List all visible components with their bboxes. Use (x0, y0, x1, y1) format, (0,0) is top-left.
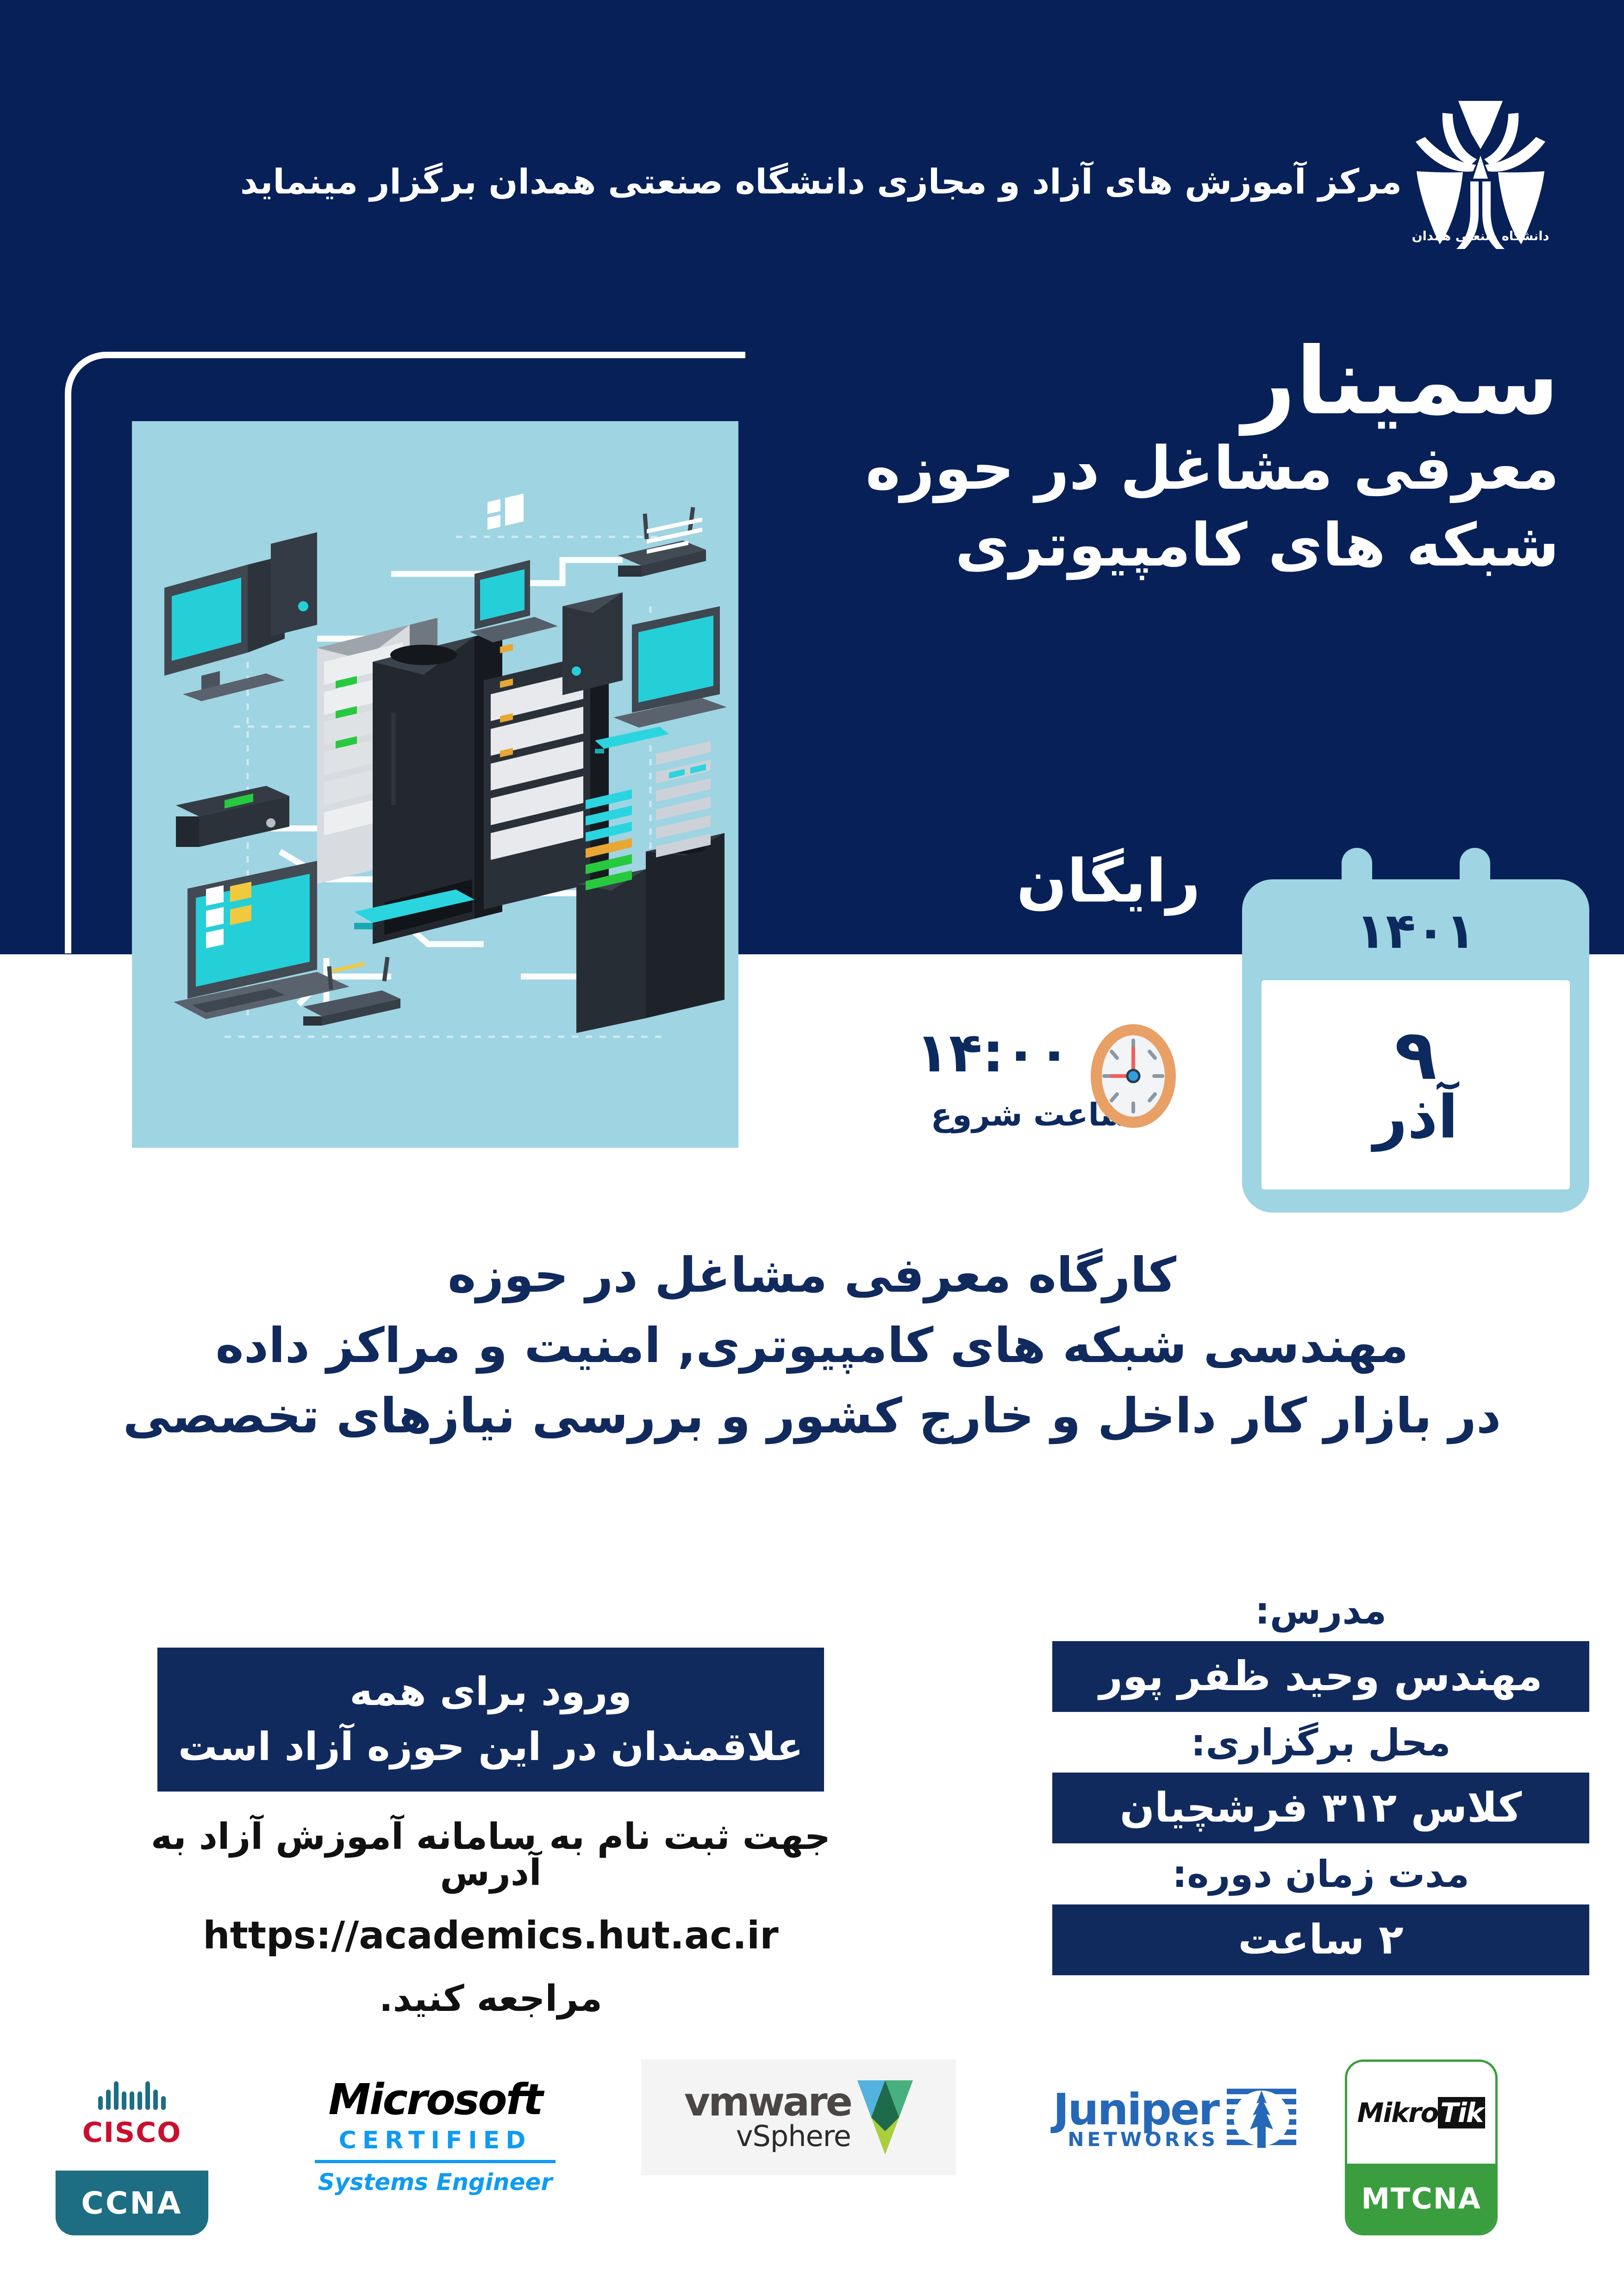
title-line-1: سمینار (772, 333, 1559, 430)
duration-value: ۲ ساعت (1052, 1904, 1589, 1975)
free-entry-notice: ورود برای همه علاقمندان در این حوزه آزاد… (157, 1648, 824, 1792)
registration-info: جهت ثبت نام به سامانه آموزش آزاد به آدرس… (130, 1819, 852, 2017)
calendar-year: ۱۴۰۱ (1242, 902, 1589, 959)
cisco-ccna-logo: CISCO CCNA (56, 2060, 208, 2235)
instructor-label: مدرس: (1052, 1583, 1589, 1638)
entry-line-1: ورود برای همه (171, 1664, 810, 1719)
description-line-3: در بازار کار داخل و خارج کشور و بررسی نی… (0, 1381, 1624, 1451)
mikrotik-brand-text: MikroTik (1357, 2097, 1486, 2128)
description-line-1: کارگاه معرفی مشاغل در حوزه (0, 1240, 1624, 1311)
price-free-label: رایگان (1017, 847, 1200, 916)
poster-header: مرکز آموزش های آزاد و مجازی دانشگاه صنعت… (0, 69, 1624, 190)
microsoft-certified-text: CERTIFIED (339, 2128, 532, 2153)
registration-line-3: مراجعه کنید. (130, 1981, 852, 2017)
microsoft-systems-engineer-text: Systems Engineer (318, 2171, 552, 2194)
vmware-text-block: vmware vSphere (684, 2084, 851, 2152)
organizer-text: مرکز آموزش های آزاد و مجازی دانشگاه صنعت… (240, 162, 1402, 202)
hamedan-university-emblem-icon (1411, 97, 1550, 250)
juniper-text-block: Juniper NETWORKS (1053, 2090, 1218, 2149)
poster-root: مرکز آموزش های آزاد و مجازی دانشگاه صنعت… (0, 0, 1624, 2296)
mikrotik-logo-top: MikroTik (1347, 2062, 1495, 2164)
vmware-vsphere-logo: vmware vSphere (641, 2060, 956, 2175)
microsoft-divider-rule (315, 2160, 556, 2163)
calendar-icon: ۱۴۰۱ ۹ آذر (1242, 879, 1589, 1213)
poster-title: سمینار معرفی مشاغل در حوزه شبکه های کامپ… (772, 333, 1559, 585)
calendar-sheet: ۹ آذر (1262, 980, 1570, 1189)
microsoft-certified-systems-engineer-logo: Microsoft CERTIFIED Systems Engineer (287, 2060, 583, 2212)
title-line-3: شبکه های کامپیوتری (772, 507, 1559, 584)
mikrotik-brand-part-a: Mikro (1357, 2097, 1438, 2128)
calendar-month: آذر (1373, 1088, 1458, 1147)
university-logo-caption: دانشگاه صنعتی همدان (1411, 229, 1550, 243)
vsphere-product-text: vSphere (736, 2121, 851, 2151)
entry-line-2: علاقمندان در این حوزه آزاد است (171, 1719, 810, 1774)
start-time-block: ۱۴:۰۰ ساعت شروع (881, 1016, 1177, 1192)
cisco-bridge-icon (98, 2081, 166, 2110)
isometric-network-datacenter-illustration (132, 421, 738, 1148)
clock-icon (1089, 1023, 1177, 1129)
mtcna-certification-text: MTCNA (1347, 2164, 1495, 2233)
venue-label: محل برگزاری: (1052, 1715, 1589, 1770)
venue-value: کلاس ۳۱۲ فرشچیان (1052, 1773, 1589, 1843)
start-time-value: ۱۴:۰۰ (916, 1020, 1071, 1084)
juniper-networks-logo: Juniper NETWORKS (1018, 2060, 1296, 2180)
description-line-2: مهندسی شبکه های کامپیوتری, امنیت و مراکز… (0, 1311, 1624, 1381)
cisco-logo-top: CISCO (56, 2060, 208, 2171)
cisco-brand-text: CISCO (82, 2116, 182, 2149)
mikrotik-brand-part-b: Tik (1438, 2097, 1485, 2128)
microsoft-brand-text: Microsoft (328, 2078, 542, 2121)
vmware-brand-text: vmware (684, 2084, 851, 2122)
seminar-description: کارگاه معرفی مشاغل در حوزه مهندسی شبکه ه… (0, 1240, 1624, 1451)
juniper-tree-icon (1227, 2085, 1296, 2154)
juniper-brand-text: Juniper (1053, 2090, 1218, 2130)
event-info-panel: مدرس: مهندس وحید ظفر پور محل برگزاری: کل… (1052, 1583, 1589, 1978)
ccna-certification-text: CCNA (56, 2171, 208, 2235)
title-line-2: معرفی مشاغل در حوزه (772, 430, 1559, 507)
vmware-triangle-icon (857, 2080, 913, 2154)
juniper-networks-text: NETWORKS (1068, 2130, 1218, 2149)
registration-line-1: جهت ثبت نام به سامانه آموزش آزاد به آدرس (130, 1819, 852, 1891)
calendar-day: ۹ (1394, 1022, 1437, 1089)
mikrotik-mtcna-logo: MikroTik MTCNA (1345, 2060, 1498, 2235)
instructor-value: مهندس وحید ظفر پور (1052, 1641, 1589, 1712)
registration-url[interactable]: https://academics.hut.ac.ir (130, 1917, 852, 1955)
certification-logos: CISCO CCNA Microsoft CERTIFIED Systems E… (0, 2060, 1624, 2259)
duration-label: مدت زمان دوره: (1052, 1846, 1589, 1902)
